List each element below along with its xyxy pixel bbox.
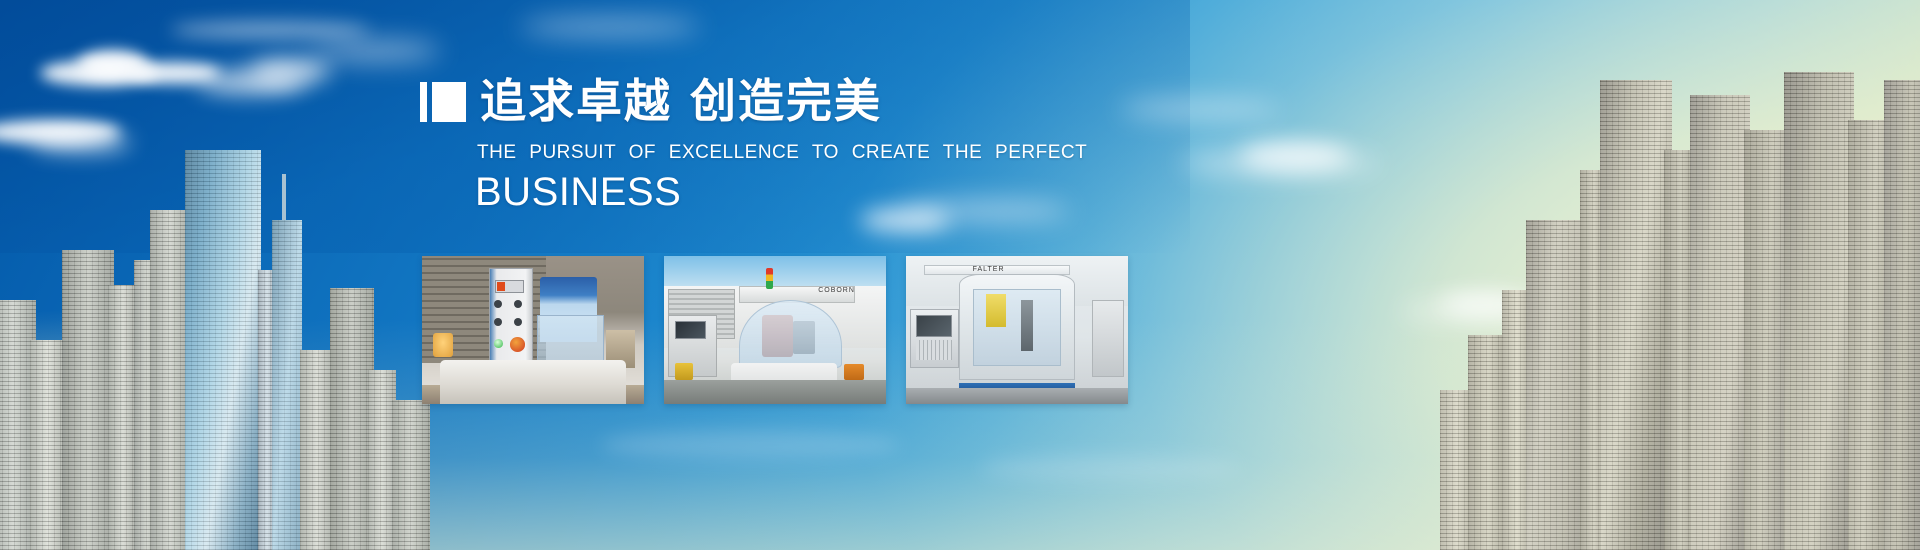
- logo-bar-shape: [420, 82, 427, 122]
- logo-square-shape: [432, 82, 466, 122]
- photo-falter-machine[interactable]: FALTER: [906, 256, 1128, 404]
- bar-square-logo-icon: [420, 80, 466, 122]
- photo3-floor: [906, 388, 1128, 404]
- photo-coborn-grinder[interactable]: COBORN: [664, 256, 886, 404]
- photo-strip: COBORN FALTER: [422, 256, 1128, 404]
- headline-chinese: 追求卓越 创造完美: [480, 78, 882, 124]
- subtitle-english: THE PURSUIT OF EXCELLENCE TO CREATE THE …: [477, 142, 1180, 164]
- photo1-machine-base: [440, 360, 626, 404]
- photo1-glass-enclosure: [537, 315, 604, 365]
- photo2-brand-label: COBORN: [818, 287, 855, 294]
- hero-banner: 追求卓越 创造完美 THE PURSUIT OF EXCELLENCE TO C…: [0, 0, 1920, 550]
- photo2-screen: [675, 321, 706, 339]
- photo3-screen: [916, 315, 952, 337]
- headline-row: 追求卓越 创造完美: [420, 78, 1180, 124]
- photo3-right-cabinet: [1092, 300, 1123, 377]
- photo2-floor: [664, 380, 886, 404]
- photo1-green-lamp: [494, 339, 503, 348]
- photo3-tool-spindle: [1021, 300, 1032, 350]
- photo1-work-lamp: [433, 333, 453, 357]
- photo2-orange-container: [844, 364, 864, 380]
- photo3-keypad: [916, 340, 952, 359]
- banner-content: 追求卓越 创造完美 THE PURSUIT OF EXCELLENCE TO C…: [420, 78, 1180, 214]
- photo1-red-indicator: [497, 282, 505, 291]
- photo2-yellow-container: [675, 363, 693, 381]
- photo2-signal-tower: [766, 268, 773, 289]
- photo3-brand-label: FALTER: [973, 266, 1005, 273]
- photo3-yellow-part: [986, 294, 1006, 327]
- photo-edm-machine[interactable]: [422, 256, 644, 404]
- business-word: BUSINESS: [475, 170, 1180, 214]
